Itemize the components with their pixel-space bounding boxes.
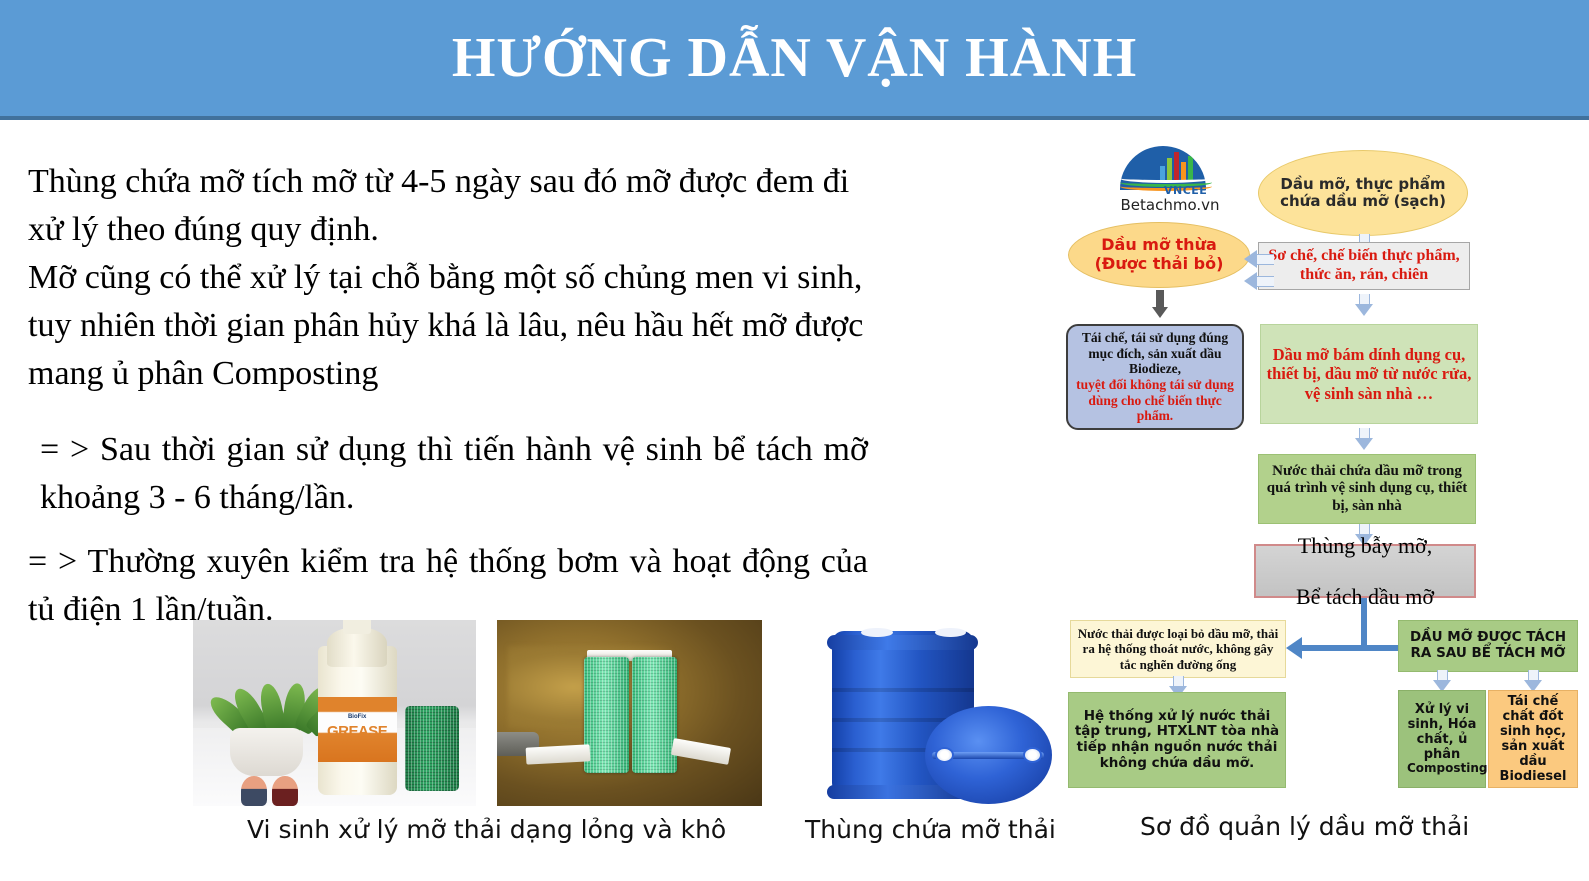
flow-node-oil-sticking-label: Dầu mỡ bám dính dụng cụ, thiết bị, dầu m…: [1261, 345, 1477, 402]
mesh-strap: [526, 745, 590, 765]
flow-node-recycle-black-text: Tái chế, tái sử dụng đúng mục đích, sản …: [1072, 330, 1238, 377]
flow-node-source: Dầu mỡ, thực phẩm chứa dầu mỡ (sạch): [1258, 150, 1468, 236]
green-mesh-roll: [405, 706, 459, 792]
photo-biofix-grease-bottle: BioFix GREASE: [193, 620, 476, 806]
waste-oil-management-flowchart: VNCEE Betachmo.vn Dầu mỡ, thực phẩm chứa…: [1062, 142, 1582, 812]
instruction-paragraph-1: Thùng chứa mỡ tích mỡ từ 4-5 ngày sau đó…: [28, 158, 868, 254]
arrow-down-icon: [1524, 670, 1542, 692]
flow-node-central-treatment-plant: Hệ thống xử lý nước thải tập trung, HTXL…: [1068, 692, 1286, 788]
flow-node-clean-water-label: Nước thải được loại bỏ dầu mỡ, thải ra h…: [1071, 626, 1285, 671]
flow-node-central-treatment-plant-label: Hệ thống xử lý nước thải tập trung, HTXL…: [1069, 709, 1285, 772]
arrow-down-icon: [1433, 670, 1451, 692]
bottle-label: BioFix GREASE: [318, 697, 397, 762]
plant-pot: [230, 728, 304, 776]
arrow-down-icon: [1355, 294, 1373, 316]
lid-plug: [1023, 747, 1042, 763]
grease-bottle: BioFix GREASE: [318, 646, 397, 795]
bottle-brand-text: BioFix: [348, 714, 366, 720]
logo-site-text: Betachmo.vn: [1112, 196, 1228, 214]
flow-node-oil-sticking: Dầu mỡ bám dính dụng cụ, thiết bị, dầu m…: [1260, 324, 1478, 424]
instructions-text-block: Thùng chứa mỡ tích mỡ từ 4-5 ngày sau đó…: [28, 158, 868, 634]
flow-node-process-label: Sơ chế, chế biến thực phẩm, thức ăn, rán…: [1259, 247, 1469, 284]
flow-node-recycle: Tái chế, tái sử dụng đúng mục đích, sản …: [1066, 324, 1244, 430]
flow-node-grease-trap: Thùng bẫy mỡ,Bể tách dầu mỡ: [1254, 544, 1476, 598]
caption-barrel-photo: Thùng chứa mỡ thải: [805, 815, 1056, 844]
flow-node-grease-trap-line1: Thùng bẫy mỡ,: [1260, 533, 1470, 559]
bottle-product-text: GREASE: [327, 723, 387, 740]
flow-node-wastewater: Nước thải chứa dầu mỡ trong quá trình vệ…: [1258, 454, 1476, 524]
bottle-cap: [343, 620, 372, 634]
flow-node-surplus-oil-label: Dầu mỡ thừa (Được thải bỏ): [1069, 236, 1249, 273]
flow-node-wastewater-label: Nước thải chứa dầu mỡ trong quá trình vệ…: [1259, 463, 1475, 515]
mesh-strap: [671, 738, 731, 765]
vncee-logo: VNCEE Betachmo.vn: [1102, 142, 1234, 220]
flow-node-surplus-oil: Dầu mỡ thừa (Được thải bỏ): [1068, 222, 1250, 288]
barrel-rim: [827, 635, 978, 650]
flow-node-bio-treatment-sub: Composting: [1403, 762, 1481, 776]
figurine: [272, 776, 297, 806]
arrow-down-icon: [1355, 428, 1373, 450]
flow-node-recycle-label: Tái chế, tái sử dụng đúng mục đích, sản …: [1068, 330, 1242, 424]
flow-node-biodiesel-label: Tái chế chất đốt sinh học, sản xuất dầu …: [1489, 694, 1577, 784]
photo-mesh-cylinders-in-grease-trap: [497, 620, 762, 806]
arrow-left-icon: [1244, 250, 1274, 268]
page-title: HƯỚNG DẪN VẬN HÀNH: [452, 26, 1137, 90]
instruction-paragraph-2: Mỡ cũng có thể xử lý tại chỗ bằng một số…: [28, 254, 868, 398]
lid-plug: [935, 747, 954, 763]
page-header: HƯỚNG DẪN VẬN HÀNH: [0, 0, 1589, 120]
arrow-left-blue-icon: [1286, 637, 1302, 659]
figurine: [241, 776, 266, 806]
instruction-paragraph-3: = > Sau thời gian sử dụng thì tiến hành …: [28, 426, 868, 522]
mesh-cylinder: [584, 657, 629, 772]
photo-blue-waste-grease-barrel: [812, 620, 1057, 810]
barrel-bung: [861, 628, 893, 638]
flow-node-source-label: Dầu mỡ, thực phẩm chứa dầu mỡ (sạch): [1259, 176, 1467, 211]
arrow-left-icon: [1244, 272, 1274, 290]
flow-node-process: Sơ chế, chế biến thực phẩm, thức ăn, rán…: [1258, 242, 1470, 290]
mesh-cylinder: [632, 657, 677, 772]
flow-node-bio-treatment: Xử lý vi sinh, Hóa chất, ủ phân Composti…: [1398, 690, 1486, 788]
flow-node-recycle-red-text: tuyệt đối không tái sử dụng dùng cho chế…: [1072, 377, 1238, 424]
flow-node-separated-oil-label: DẦU MỠ ĐƯỢC TÁCH RA SAU BỂ TÁCH MỠ: [1399, 630, 1577, 661]
caption-biofix-photo: Vi sinh xử lý mỡ thải dạng lỏng và khô: [247, 815, 726, 844]
arrow-down-dark-icon: [1152, 290, 1168, 318]
flow-node-clean-water: Nước thải được loại bỏ dầu mỡ, thải ra h…: [1070, 620, 1286, 678]
barrel-ring: [832, 688, 974, 692]
barrel-bung: [935, 628, 967, 638]
flow-node-separated-oil: DẦU MỠ ĐƯỢC TÁCH RA SAU BỂ TÁCH MỠ: [1398, 620, 1578, 672]
flow-node-bio-treatment-label: Xử lý vi sinh, Hóa chất, ủ phân Composti…: [1399, 702, 1485, 776]
flow-node-biodiesel: Tái chế chất đốt sinh học, sản xuất dầu …: [1488, 690, 1578, 788]
barrel-lid: [925, 706, 1052, 805]
caption-flowchart: Sơ đồ quản lý dầu mỡ thải: [1140, 812, 1469, 841]
flow-node-bio-treatment-main: Xử lý vi sinh, Hóa chất, ủ phân: [1403, 702, 1481, 762]
connector-vertical: [1361, 598, 1367, 648]
